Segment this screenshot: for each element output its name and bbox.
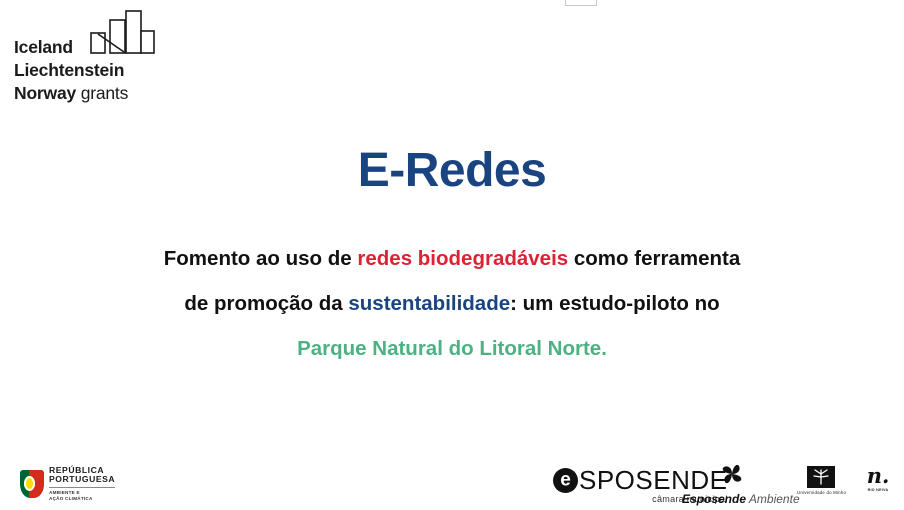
subtitle-line-3: Parque Natural do Litoral Norte. [0,326,904,371]
rio-neiva-caption: RIO NEIVA [856,488,900,492]
rio-neiva-monogram: n. [856,465,900,486]
ambiente-word-light: Ambiente [746,492,800,506]
grants-wordmark: Iceland Liechtenstein Norway grants [14,36,194,105]
grants-line-norway-grants: Norway grants [14,82,194,105]
subtitle-line-2-part-1: de promoção da [184,292,348,315]
grants-line-liechtenstein: Liechtenstein [14,59,194,82]
uminho-emblem-glyph [807,466,835,488]
rp-department: AMBIENTE E AÇÃO CLIMÁTICA [49,487,115,501]
subtitle-line-1-part-2: como ferramenta [568,247,740,270]
rio-neiva-logo: n. RIO NEIVA [856,465,900,492]
universidade-do-minho-logo: Universidade do Minho [797,466,845,495]
rp-sub-line-2: AÇÃO CLIMÁTICA [49,496,115,502]
grants-norway-word: Norway [14,83,76,103]
portugal-shield-icon [20,470,44,498]
subtitle-block: Fomento ao uso de redes biodegradáveis c… [0,236,904,371]
subtitle-line-1: Fomento ao uso de redes biodegradáveis c… [0,236,904,281]
subtitle-line-1-part-1: Fomento ao uso de [164,247,358,270]
footer-logo-bar: REPÚBLICA PORTUGUESA AMBIENTE E AÇÃO CLI… [0,455,904,510]
esposende-e-letter: e [553,471,578,490]
republica-portuguesa-logo: REPÚBLICA PORTUGUESA AMBIENTE E AÇÃO CLI… [20,466,115,502]
pinwheel-icon [719,463,745,485]
rp-name-line-2: PORTUGUESA [49,475,115,484]
page-title: E-Redes [0,143,904,198]
esposende-e-icon: e [553,468,578,493]
subtitle-line-3-highlight: Parque Natural do Litoral Norte. [297,337,607,360]
grants-grants-text: grants [81,83,128,103]
uminho-emblem-icon [807,466,835,488]
subtitle-line-2-highlight: sustentabilidade [348,292,510,315]
esposende-ambiente-logo: Esposende Ambiente [682,463,782,506]
uminho-caption: Universidade do Minho [797,490,845,495]
subtitle-line-1-highlight: redes biodegradáveis [357,247,568,270]
subtitle-line-2-part-2: : um estudo-piloto no [510,292,720,315]
subtitle-line-2: de promoção da sustentabilidade: um estu… [0,281,904,326]
esposende-ambiente-wordmark: Esposende Ambiente [682,492,782,506]
eea-norway-grants-logo: Iceland Liechtenstein Norway grants [14,8,194,103]
top-placeholder-box [565,0,597,6]
republica-portuguesa-text: REPÚBLICA PORTUGUESA AMBIENTE E AÇÃO CLI… [49,466,115,502]
grants-line-iceland: Iceland [14,36,194,59]
ambiente-word-bold: Esposende [682,492,746,506]
